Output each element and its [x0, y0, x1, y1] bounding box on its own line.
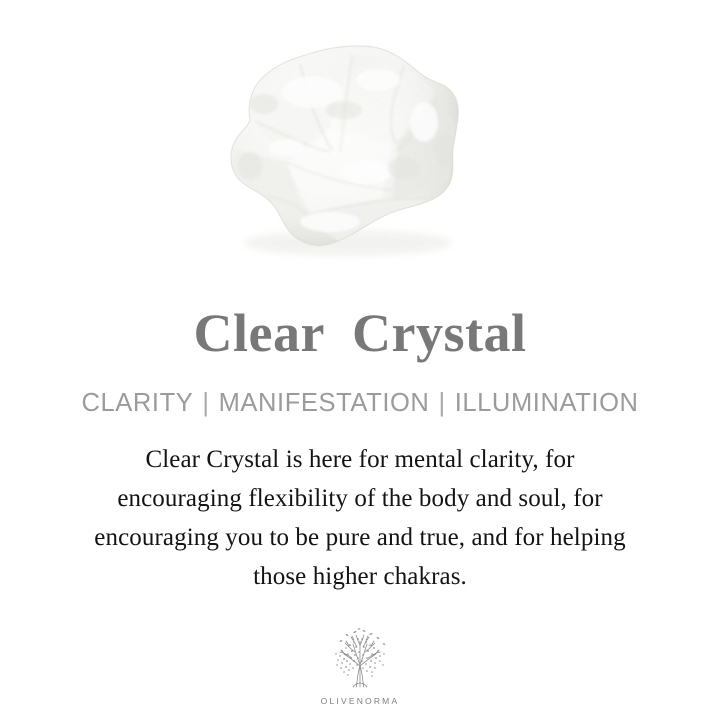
page-title: Clear Crystal [194, 304, 527, 362]
keyword-separator: | [429, 388, 454, 418]
description-line: encouraging flexibility of the body and … [40, 479, 680, 518]
clear-crystal-info-card: Clear Crystal CLARITY | MANIFESTATION | … [0, 0, 720, 720]
keyword-illumination: ILLUMINATION [455, 388, 639, 418]
keyword-clarity: CLARITY [81, 388, 193, 418]
olive-tree-icon [322, 625, 398, 693]
description-text: Clear Crystal is here for mental clarity… [40, 440, 680, 596]
keyword-separator: | [193, 388, 218, 418]
keyword-manifestation: MANIFESTATION [219, 388, 430, 418]
raw-clear-quartz-crystal-photo [0, 0, 720, 282]
brand-logo: OLIVENORMA [0, 625, 720, 706]
brand-name: OLIVENORMA [321, 696, 400, 706]
description-line: encouraging you to be pure and true, and… [40, 518, 680, 557]
keyword-list: CLARITY | MANIFESTATION | ILLUMINATION [81, 388, 638, 418]
product-image-area [0, 0, 720, 282]
description-line: Clear Crystal is here for mental clarity… [40, 440, 680, 479]
description-line: those higher chakras. [40, 557, 680, 596]
